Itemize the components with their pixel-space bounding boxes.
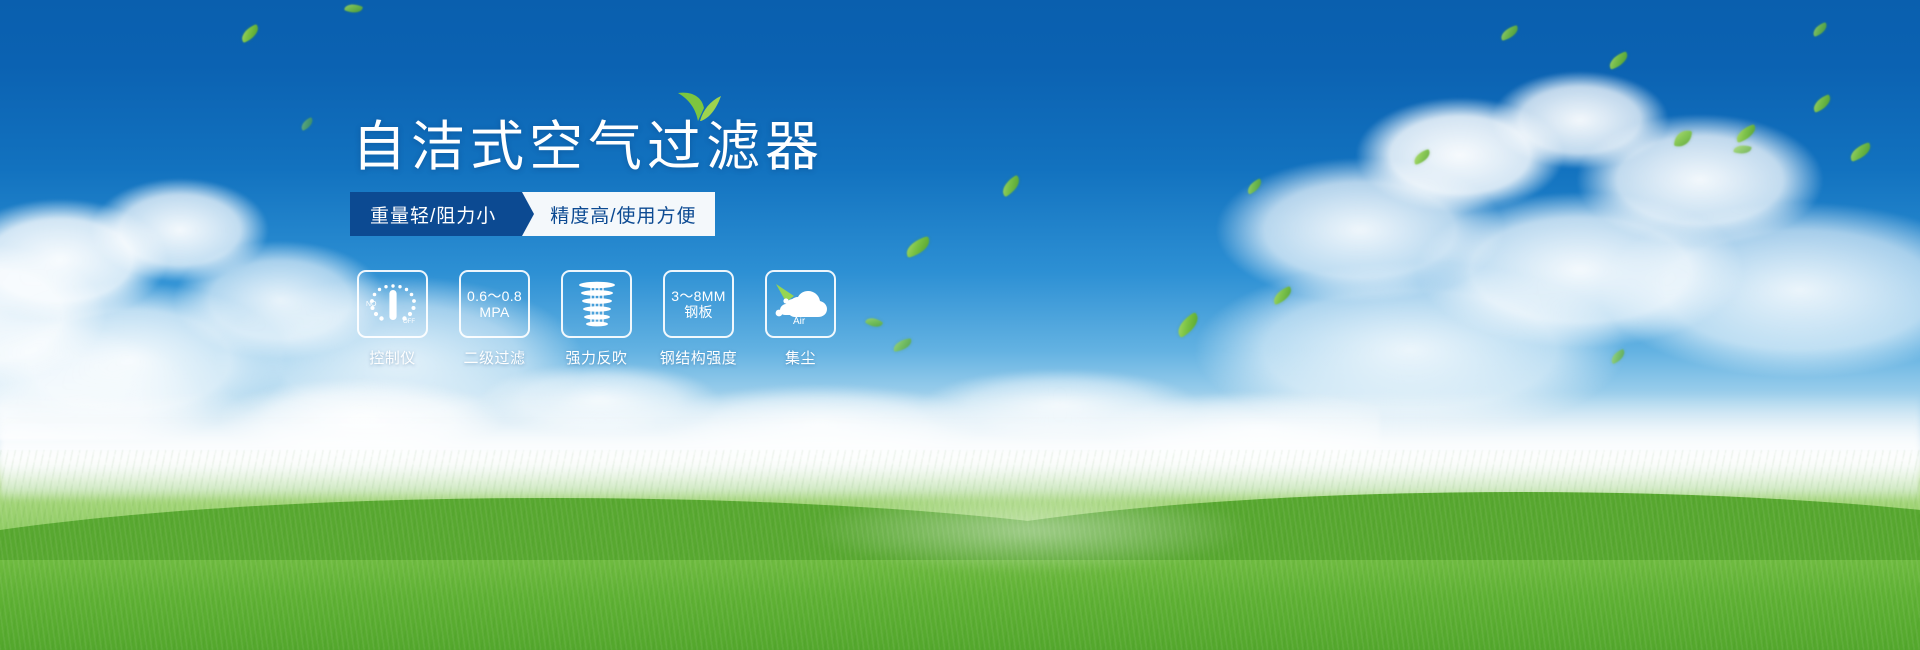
feature-dust-collection-box: Air: [765, 270, 836, 338]
feature-steel-strength-box: 3～8MM 钢板: [663, 270, 734, 338]
steel-thickness-line1: 3～8MM: [671, 288, 725, 304]
dial-off-label: OFF: [403, 319, 415, 325]
dial-on-label: NO: [366, 301, 377, 308]
feature-secondary-filter-box: 0.6～0.8 MPA: [459, 270, 530, 338]
feature-controller[interactable]: NO OFF 控制仪: [357, 270, 428, 368]
filter-coil-icon: [572, 278, 622, 330]
feature-icon-row: NO OFF 控制仪 0.6～0.8 MPA 二级过滤: [357, 270, 836, 368]
feature-tag-group: 重量轻/阻力小 精度高/使用方便: [350, 192, 715, 236]
feature-secondary-filter[interactable]: 0.6～0.8 MPA 二级过滤: [459, 270, 530, 368]
feature-backblow-label: 强力反吹: [565, 347, 627, 368]
tag-precision-convenience[interactable]: 精度高/使用方便: [520, 192, 714, 236]
feature-dust-collection[interactable]: Air 集尘: [765, 270, 836, 368]
hero-banner: 自洁式空气过滤器 重量轻/阻力小 精度高/使用方便: [0, 0, 1920, 650]
pressure-value-line1: 0.6～0.8: [467, 288, 522, 304]
control-dial-icon: NO OFF: [364, 278, 422, 330]
leaf-sprout-icon: [676, 88, 722, 122]
feature-secondary-filter-label: 二级过滤: [463, 347, 525, 368]
dust-cloud-air-icon: Air: [772, 282, 830, 326]
feature-backblow[interactable]: 强力反吹: [561, 270, 632, 368]
page-title: 自洁式空气过滤器: [352, 120, 824, 174]
feature-backblow-box: [561, 270, 632, 338]
feature-controller-box: NO OFF: [357, 270, 428, 338]
feature-dust-collection-label: 集尘: [785, 347, 816, 368]
steel-thickness-line2: 钢板: [684, 304, 713, 320]
pressure-value-line2: MPA: [479, 304, 509, 320]
air-label: Air: [793, 316, 806, 326]
feature-steel-strength[interactable]: 3～8MM 钢板 钢结构强度: [663, 270, 734, 368]
feature-steel-strength-label: 钢结构强度: [660, 347, 738, 368]
feature-controller-label: 控制仪: [369, 347, 416, 368]
tag-weight-resistance[interactable]: 重量轻/阻力小: [350, 192, 522, 236]
